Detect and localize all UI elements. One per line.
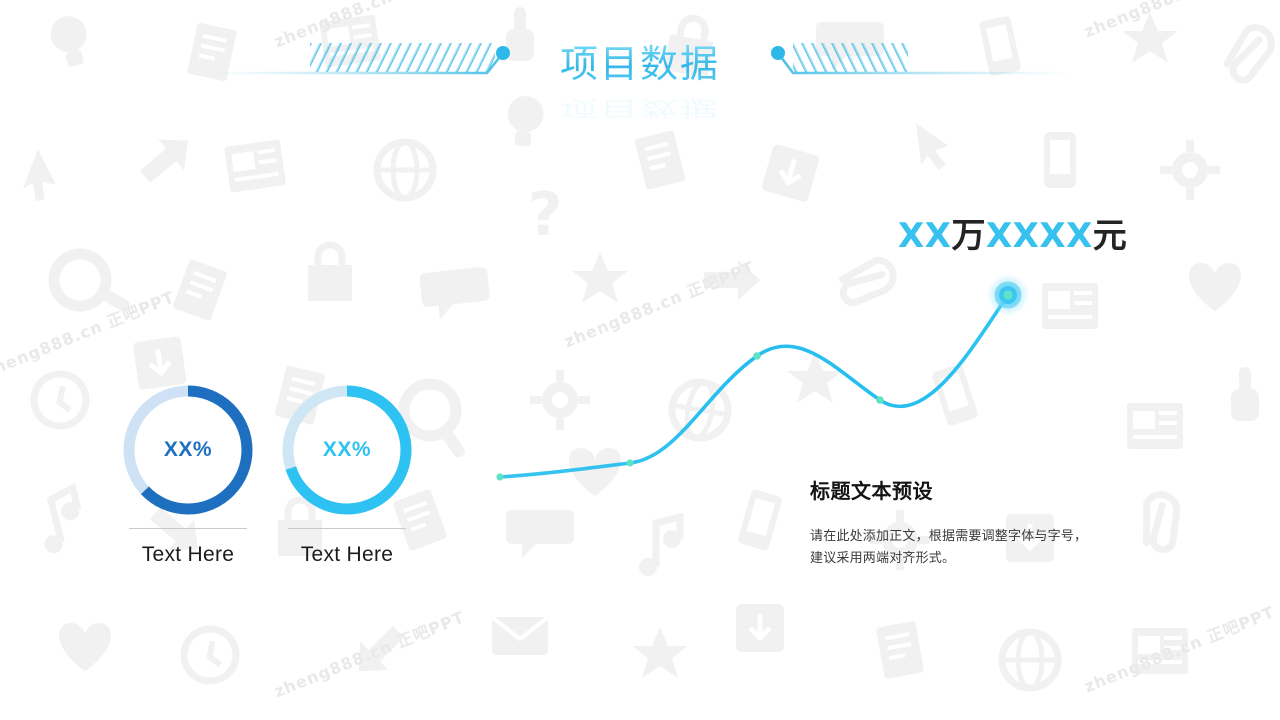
- donut-value-2: XX%: [277, 380, 417, 520]
- donut-chart-2: XX%: [277, 380, 417, 520]
- site-watermark: zheng888.cn 正吧PPT: [270, 604, 468, 703]
- description-title: 标题文本预设: [810, 475, 1110, 504]
- page-title-reflection: 项目数据: [0, 96, 1280, 120]
- donut-chart-group: XX% Text Here XX% Text Here: [105, 380, 445, 580]
- data-point-marker: [626, 459, 633, 466]
- site-watermark: zheng888.cn 正吧PPT: [560, 254, 758, 353]
- page-title: 项目数据: [0, 42, 1280, 86]
- donut-chart-1: XX%: [118, 380, 258, 520]
- site-watermark: zheng888.cn 正吧PPT: [1080, 599, 1278, 698]
- donut-caption-2: Text Here: [277, 528, 417, 567]
- data-point-marker: [876, 396, 884, 404]
- donut-caption-label-1: Text Here: [118, 543, 258, 567]
- slide-header: 项目数据 项目数据: [0, 0, 1280, 120]
- description-body: 请在此处添加正文，根据需要调整字体与字号，建议采用两端对齐形式。: [810, 526, 1100, 570]
- site-watermark: zheng888.cn 正吧PPT: [0, 284, 178, 383]
- highlight-unit-yuan: 元: [1093, 216, 1128, 256]
- donut-caption-label-2: Text Here: [277, 543, 417, 567]
- end-point-marker: [987, 274, 1029, 316]
- highlight-value: XX万XXXX元: [898, 208, 1127, 257]
- data-point-marker: [753, 352, 761, 360]
- highlight-middle: XXXX: [986, 216, 1093, 256]
- trend-line-path: [500, 295, 1008, 477]
- data-point-marker: [496, 473, 503, 480]
- caption-divider: [288, 528, 406, 529]
- highlight-unit-wan: 万: [951, 216, 986, 256]
- caption-divider: [129, 528, 247, 529]
- donut-caption-1: Text Here: [118, 528, 258, 567]
- highlight-prefix: XX: [898, 216, 951, 256]
- description-block: 标题文本预设 请在此处添加正文，根据需要调整字体与字号，建议采用两端对齐形式。: [810, 475, 1110, 570]
- slide-canvas: ?: [0, 0, 1280, 720]
- donut-value-1: XX%: [118, 380, 258, 520]
